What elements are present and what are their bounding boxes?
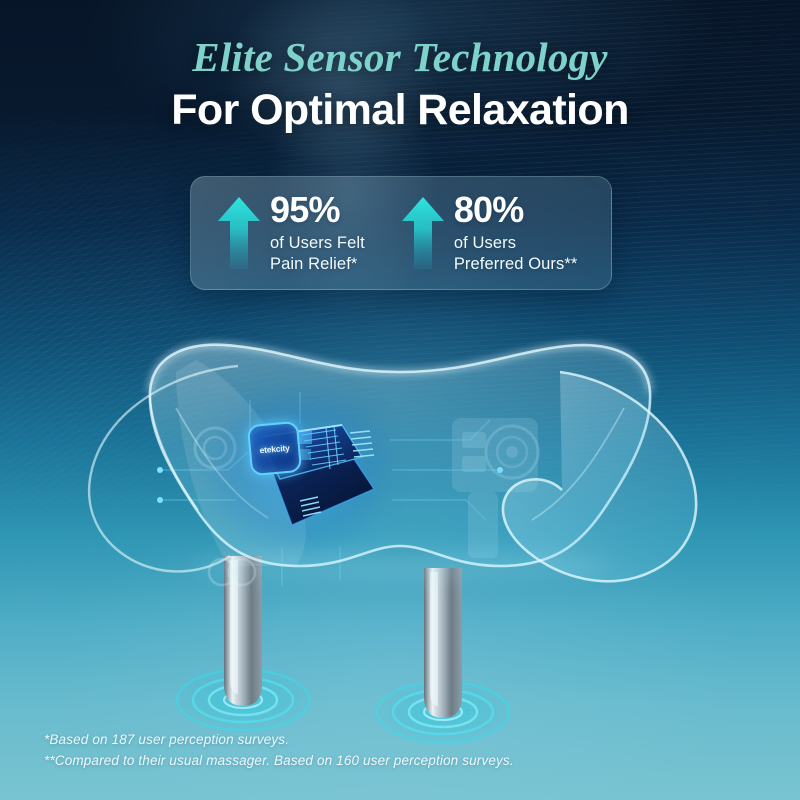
product-marketing-image: etekcity Elite Sensor Technology For Opt… xyxy=(0,0,800,800)
headline-block: Elite Sensor Technology For Optimal Rela… xyxy=(0,36,800,133)
stat-text-1: 95% of Users Felt Pain Relief* xyxy=(270,191,365,274)
massage-node-right xyxy=(424,568,462,718)
footnotes-block: *Based on 187 user perception surveys. *… xyxy=(44,730,514,772)
footnote-2: **Compared to their usual massager. Base… xyxy=(44,751,514,772)
stat-line1-1: of Users Felt xyxy=(270,233,365,254)
up-arrow-icon xyxy=(401,195,445,271)
stat-line2-1: Pain Relief* xyxy=(270,254,365,275)
stat-line1-2: of Users xyxy=(454,233,578,254)
stat-line2-2: Preferred Ours** xyxy=(454,254,578,275)
headline-main: For Optimal Relaxation xyxy=(0,87,800,133)
footnote-1: *Based on 187 user perception surveys. xyxy=(44,730,514,751)
headline-script: Elite Sensor Technology xyxy=(0,36,800,79)
stat-block-1: 95% of Users Felt Pain Relief* xyxy=(217,191,365,274)
stats-panel: 95% of Users Felt Pain Relief* 80% of Us… xyxy=(190,176,612,290)
brand-logo-text: etekcity xyxy=(259,442,290,455)
stat-percent-1: 95% xyxy=(270,192,365,227)
circuit-chip: etekcity xyxy=(238,415,388,545)
stat-percent-2: 80% xyxy=(454,192,578,227)
stat-text-2: 80% of Users Preferred Ours** xyxy=(454,191,578,274)
stat-block-2: 80% of Users Preferred Ours** xyxy=(401,191,578,274)
brand-logo-badge: etekcity xyxy=(247,421,302,476)
up-arrow-icon xyxy=(217,195,261,271)
